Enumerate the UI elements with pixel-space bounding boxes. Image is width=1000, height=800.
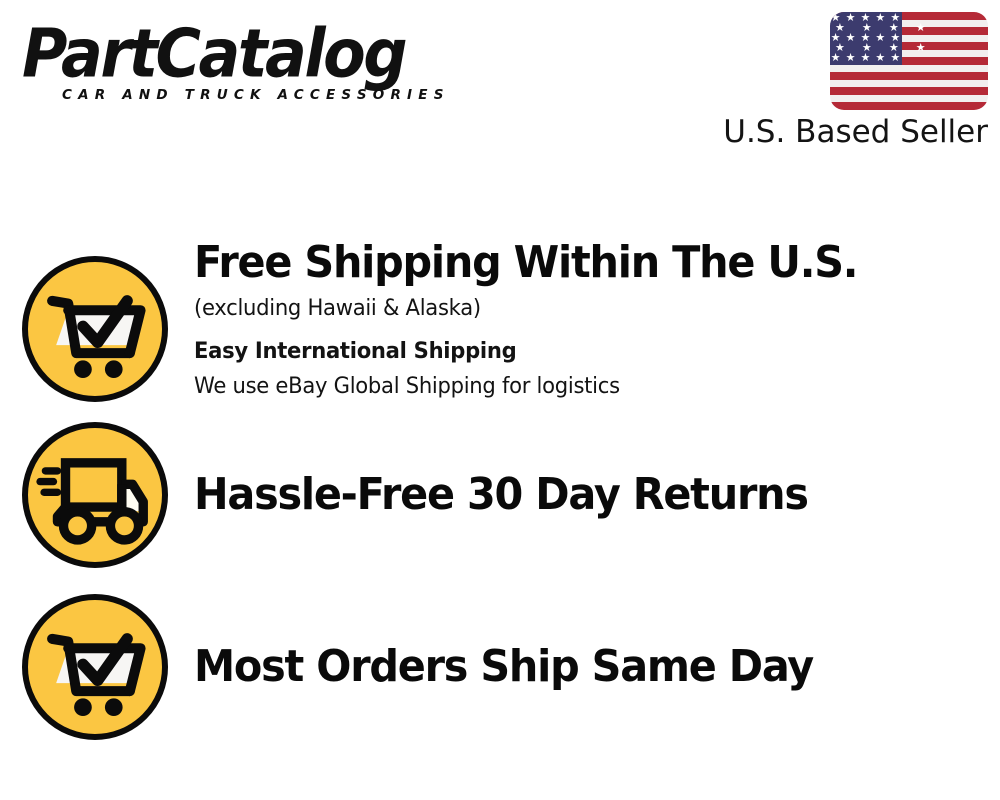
flag-stripe xyxy=(830,80,988,88)
shopping-cart-check-icon xyxy=(22,594,168,740)
icon-slot xyxy=(0,422,190,568)
us-flag-icon: ★ ★ ★ ★ ★ ★ ★ ★ ★ ★ ★ ★ ★ ★ ★ ★ ★ ★ ★ ★ … xyxy=(830,12,988,110)
flag-stripe xyxy=(830,65,988,73)
feature-text-slot: Hassle-Free 30 Day Returns xyxy=(190,470,1000,520)
brand-wordmark: PartCatalog xyxy=(22,18,492,89)
feature-row-returns: Hassle-Free 30 Day Returns xyxy=(0,418,1000,572)
us-based-seller-label: U.S. Based Seller xyxy=(713,112,988,152)
feature-row-free-shipping: Free Shipping Within The U.S. (excluding… xyxy=(0,238,1000,410)
header-bar: PartCatalog CAR AND TRUCK ACCESSORIES ★ … xyxy=(0,0,1000,175)
icon-slot xyxy=(0,594,190,740)
flag-stripe xyxy=(830,95,988,103)
icon-slot xyxy=(0,238,190,402)
shopping-cart-check-icon xyxy=(22,256,168,402)
feature-title: Free Shipping Within The U.S. xyxy=(194,238,952,288)
us-based-seller-badge: ★ ★ ★ ★ ★ ★ ★ ★ ★ ★ ★ ★ ★ ★ ★ ★ ★ ★ ★ ★ … xyxy=(713,12,988,152)
feature-title: Most Orders Ship Same Day xyxy=(194,642,952,692)
delivery-truck-icon xyxy=(22,422,168,568)
feature-text-slot: Most Orders Ship Same Day xyxy=(190,642,1000,692)
flag-star-row: ★ ★ ★ ★ ★ xyxy=(830,53,902,64)
flag-stripe xyxy=(830,102,988,110)
feature-text-slot: Free Shipping Within The U.S. (excluding… xyxy=(190,238,1000,404)
flag-canton: ★ ★ ★ ★ ★ ★ ★ ★ ★ ★ ★ ★ ★ ★ ★ ★ ★ ★ ★ ★ … xyxy=(830,12,902,65)
feature-row-same-day: Most Orders Ship Same Day xyxy=(0,590,1000,744)
flag-stripe xyxy=(830,87,988,95)
feature-note: (excluding Hawaii & Alaska) xyxy=(194,292,968,326)
feature-title: Hassle-Free 30 Day Returns xyxy=(194,470,952,520)
brand-logo[interactable]: PartCatalog CAR AND TRUCK ACCESSORIES xyxy=(22,18,492,113)
feature-subtitle: Easy International Shipping xyxy=(194,335,968,369)
flag-stripe xyxy=(830,72,988,80)
feature-subnote: We use eBay Global Shipping for logistic… xyxy=(194,370,968,404)
